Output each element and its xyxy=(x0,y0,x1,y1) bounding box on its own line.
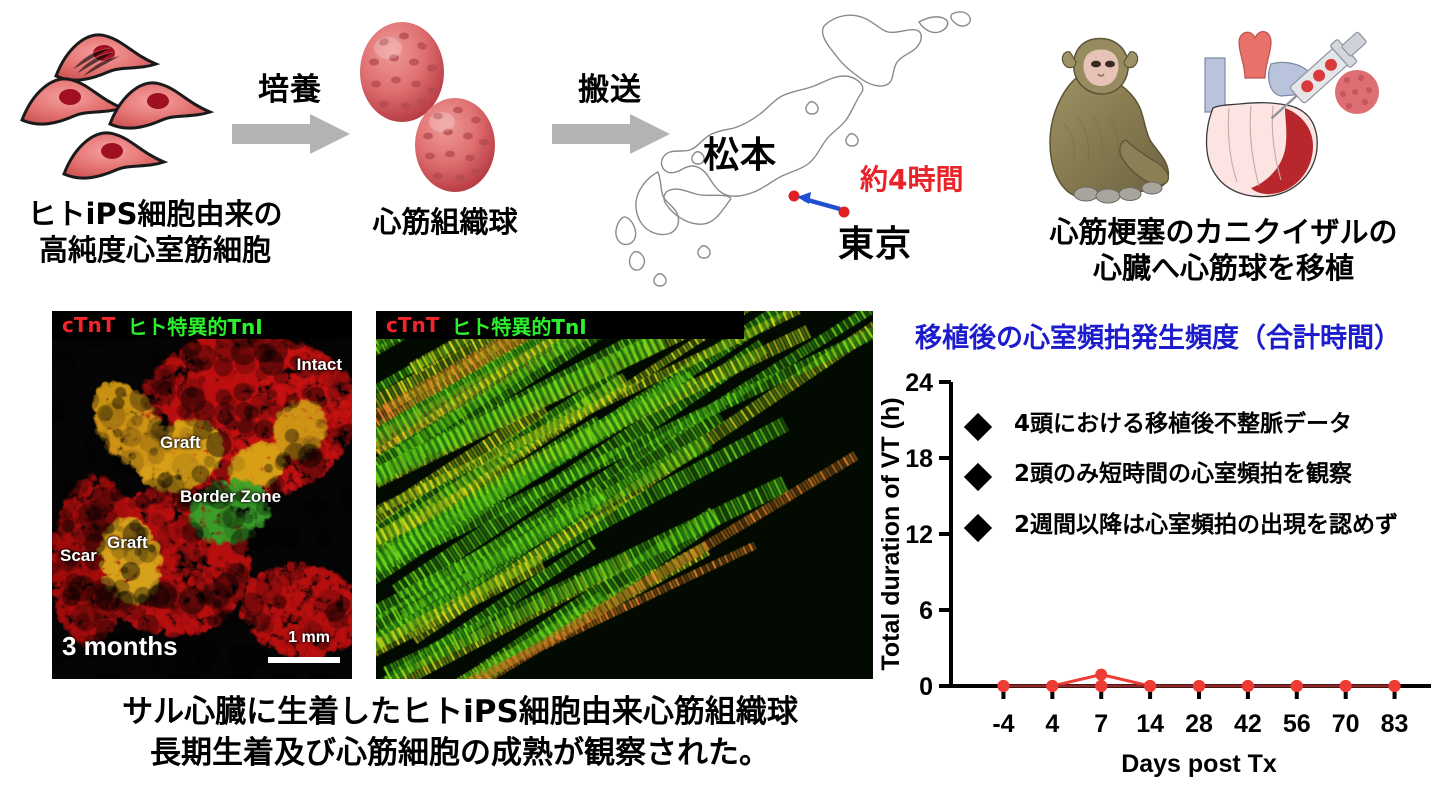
histology-tag-scar: Scar xyxy=(60,546,97,566)
marker-label-human-tni: ヒト特異的TnI xyxy=(451,311,586,340)
caption-line: 心臓へ心筋球を移植 xyxy=(1000,250,1447,286)
histology-canvas xyxy=(376,311,873,679)
svg-text:12: 12 xyxy=(905,521,933,549)
marker-label-ctnt: cTnT xyxy=(62,313,115,337)
marker-label-human-tni: ヒト特異的TnI xyxy=(127,311,262,340)
vt-duration-chart-panel: 移植後の心室頻拍発生頻度（合計時間） 06121824-447142842567… xyxy=(873,316,1443,766)
svg-text:56: 56 xyxy=(1283,710,1311,738)
svg-text:-4: -4 xyxy=(992,710,1014,738)
caption-transplantation: 心筋梗塞のカニクイザルの 心臓へ心筋球を移植 xyxy=(1000,214,1447,287)
cynomolgus-monkey-icon xyxy=(1030,14,1190,210)
diamond-bullet-icon xyxy=(964,413,992,441)
caption-line: 長期生着及び心筋細胞の成熟が観察された。 xyxy=(40,733,880,774)
svg-text:Days post Tx: Days post Tx xyxy=(1121,750,1277,778)
histology-tag-intact: Intact xyxy=(297,355,342,375)
svg-text:18: 18 xyxy=(905,445,933,473)
caption-histology: サル心臓に生着したヒトiPS細胞由来心筋組織球 長期生着及び心筋細胞の成熟が観察… xyxy=(40,692,880,774)
histology-timepoint-label: 3 months xyxy=(62,631,178,662)
svg-text:Total duration of VT (h): Total duration of VT (h) xyxy=(877,397,905,670)
bullet-text: 2頭のみ短時間の心室頻拍を観察 xyxy=(1014,462,1352,487)
diamond-bullet-icon xyxy=(964,463,992,491)
svg-text:70: 70 xyxy=(1332,710,1360,738)
caption-line: 心筋梗塞のカニクイザルの xyxy=(1000,214,1447,250)
svg-text:14: 14 xyxy=(1136,710,1164,738)
svg-text:24: 24 xyxy=(905,369,933,397)
japan-map xyxy=(612,4,987,294)
svg-text:4: 4 xyxy=(1045,710,1059,738)
cardiomyocyte-cell-icon xyxy=(60,126,168,184)
histology-image-low-mag: cTnT ヒト特異的TnI Intact Graft Border Zone G… xyxy=(52,311,352,679)
svg-text:28: 28 xyxy=(1185,710,1213,738)
svg-text:0: 0 xyxy=(919,673,933,701)
heart-injection-icon xyxy=(1185,16,1385,206)
svg-text:42: 42 xyxy=(1234,710,1262,738)
route-markers xyxy=(789,191,850,218)
caption-spheroid: 心筋組織球 xyxy=(320,204,570,240)
map-label-tokyo: 東京 xyxy=(838,215,912,267)
svg-text:83: 83 xyxy=(1381,710,1409,738)
histology-marker-legend: cTnT ヒト特異的TnI xyxy=(52,311,352,339)
cardiac-spheroid-icon xyxy=(412,96,498,194)
transit-time-label: 約4時間 xyxy=(860,158,963,198)
scale-bar xyxy=(268,657,340,663)
culture-arrow-icon xyxy=(232,112,350,156)
svg-text:7: 7 xyxy=(1094,710,1108,738)
scale-bar-label: 1 mm xyxy=(288,629,330,647)
caption-line: サル心臓に生着したヒトiPS細胞由来心筋組織球 xyxy=(40,692,880,733)
list-item: 2頭のみ短時間の心室頻拍を観察 xyxy=(968,462,1438,487)
ips-cardiomyocyte-illustration xyxy=(18,28,233,188)
marker-label-ctnt: cTnT xyxy=(386,313,439,337)
bullet-text: 2週間以降は心室頻拍の出現を認めず xyxy=(1014,513,1398,538)
map-label-matsumoto: 松本 xyxy=(703,126,777,178)
histology-tag-graft: Graft xyxy=(107,533,148,553)
caption-line: ヒトiPS細胞由来の xyxy=(0,196,310,232)
bullet-text: 4頭における移植後不整脈データ xyxy=(1014,412,1352,437)
caption-line: 高純度心室筋細胞 xyxy=(0,232,310,268)
injected-spheroid-icon xyxy=(1335,70,1379,114)
chart-bullet-list: 4頭における移植後不整脈データ 2頭のみ短時間の心室頻拍を観察 2週間以降は心室… xyxy=(968,412,1438,563)
chart-title: 移植後の心室頻拍発生頻度（合計時間） xyxy=(873,316,1443,355)
list-item: 4頭における移植後不整脈データ xyxy=(968,412,1438,437)
svg-text:6: 6 xyxy=(919,597,933,625)
histology-marker-legend: cTnT ヒト特異的TnI xyxy=(376,311,744,339)
histology-tag-border-zone: Border Zone xyxy=(180,487,281,507)
culture-step-label: 培養 xyxy=(258,64,322,109)
histology-tag-graft: Graft xyxy=(160,433,201,453)
histology-image-high-mag: cTnT ヒト特異的TnI xyxy=(376,311,873,679)
list-item: 2週間以降は心室頻拍の出現を認めず xyxy=(968,513,1438,538)
diamond-bullet-icon xyxy=(964,513,992,541)
caption-ips-cardiomyocytes: ヒトiPS細胞由来の 高純度心室筋細胞 xyxy=(0,196,310,269)
